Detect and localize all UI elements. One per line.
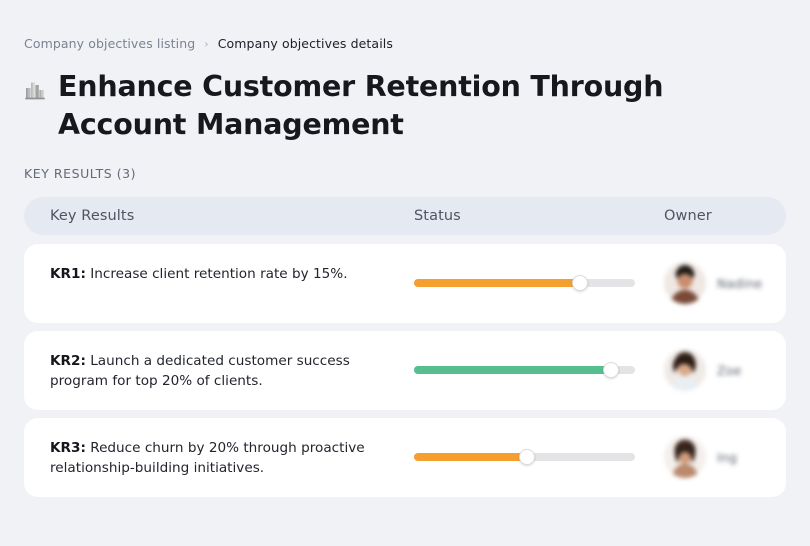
breadcrumb-link-listing[interactable]: Company objectives listing: [24, 38, 195, 51]
slider-knob[interactable]: [572, 275, 588, 291]
key-result-text: KR3: Reduce churn by 20% through proacti…: [50, 438, 390, 479]
key-result-cell: KR2: Launch a dedicated customer success…: [50, 331, 414, 410]
table-row[interactable]: KR3: Reduce churn by 20% through proacti…: [24, 418, 786, 497]
key-result-id: KR1:: [50, 266, 86, 282]
key-results-rows: KR1: Increase client retention rate by 1…: [24, 244, 786, 497]
breadcrumb-current-details: Company objectives details: [218, 38, 393, 51]
key-result-description: Reduce churn by 20% through proactive re…: [50, 440, 365, 476]
key-result-text: KR1: Increase client retention rate by 1…: [50, 264, 348, 284]
objective-details-page: Company objectives listing › Company obj…: [0, 0, 810, 546]
owner-name: Ing: [717, 450, 737, 465]
owner-cell: Ing: [664, 418, 786, 497]
key-result-id: KR3:: [50, 440, 86, 456]
key-result-text: KR2: Launch a dedicated customer success…: [50, 351, 390, 392]
chevron-right-icon: ›: [204, 38, 208, 49]
key-result-cell: KR1: Increase client retention rate by 1…: [50, 244, 414, 323]
slider-knob[interactable]: [519, 449, 535, 465]
progress-slider[interactable]: [414, 361, 635, 379]
key-result-description: Launch a dedicated customer success prog…: [50, 353, 350, 389]
key-result-description: Increase client retention rate by 15%.: [90, 266, 347, 282]
column-header-status: Status: [414, 208, 664, 224]
column-header-owner: Owner: [664, 208, 786, 224]
avatar: [664, 436, 706, 478]
slider-fill: [414, 279, 580, 287]
key-result-cell: KR3: Reduce churn by 20% through proacti…: [50, 418, 414, 497]
column-header-key-results: Key Results: [50, 208, 414, 224]
avatar: [664, 262, 706, 304]
status-cell: [414, 418, 664, 497]
progress-slider[interactable]: [414, 448, 635, 466]
owner-cell: Nadine: [664, 244, 786, 323]
slider-fill: [414, 366, 611, 374]
key-result-id: KR2:: [50, 353, 86, 369]
owner-name: Zoe: [717, 363, 742, 378]
page-title-row: Enhance Customer Retention Through Accou…: [24, 68, 724, 144]
status-cell: [414, 244, 664, 323]
owner-cell: Zoe: [664, 331, 786, 410]
slider-fill: [414, 453, 527, 461]
table-row[interactable]: KR2: Launch a dedicated customer success…: [24, 331, 786, 410]
key-results-table: Key Results Status Owner KR1: Increase c…: [24, 197, 786, 497]
avatar: [664, 349, 706, 391]
table-row[interactable]: KR1: Increase client retention rate by 1…: [24, 244, 786, 323]
status-cell: [414, 331, 664, 410]
slider-knob[interactable]: [603, 362, 619, 378]
progress-slider[interactable]: [414, 274, 635, 292]
cityscape-buildings-icon: [24, 79, 46, 105]
breadcrumb: Company objectives listing › Company obj…: [24, 0, 786, 51]
table-header-row: Key Results Status Owner: [24, 197, 786, 235]
key-results-section-label: KEY RESULTS (3): [24, 166, 786, 181]
page-title: Enhance Customer Retention Through Accou…: [58, 68, 724, 144]
owner-name: Nadine: [717, 276, 762, 291]
